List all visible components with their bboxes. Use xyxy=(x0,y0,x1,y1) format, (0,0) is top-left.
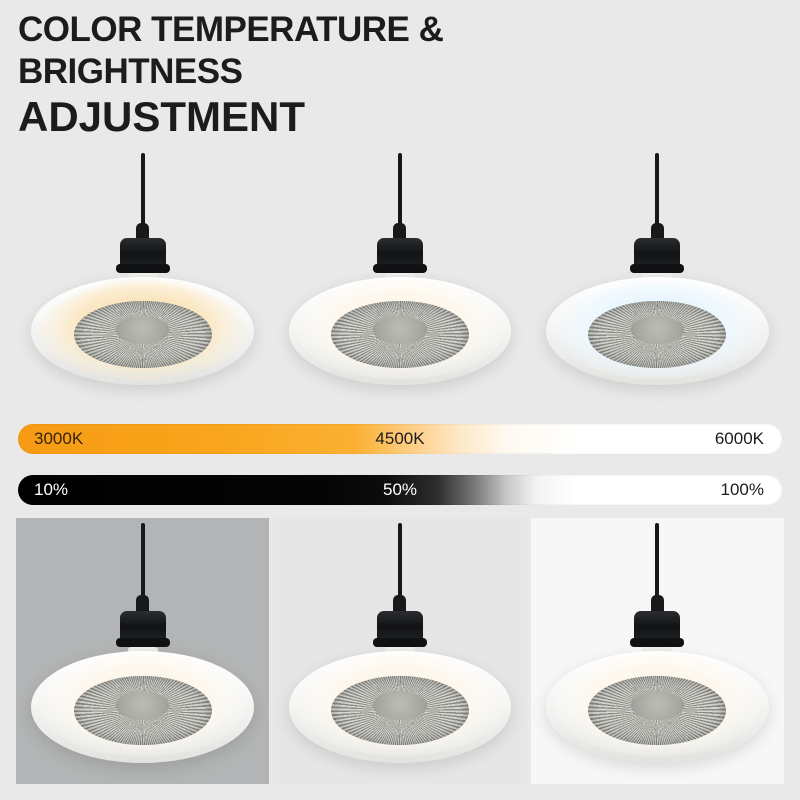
lamp-panel-100-percent xyxy=(531,518,784,784)
lamp-cord xyxy=(141,153,145,228)
lamp-cord xyxy=(141,523,145,600)
lamp-panel-10-percent xyxy=(16,518,269,784)
lamp-cord xyxy=(398,523,402,600)
lamp-shade xyxy=(289,651,512,763)
brightness-slider[interactable]: 10% 50% 100% xyxy=(18,475,782,505)
brightness-label-start: 10% xyxy=(34,475,68,505)
brightness-panel-row xyxy=(16,518,784,784)
lamp-shade xyxy=(546,277,769,385)
temp-label-start: 3000K xyxy=(34,424,83,454)
pendant-lamp-bright-image xyxy=(531,518,784,784)
pendant-lamp-warm-image xyxy=(16,148,269,406)
lamp-cord xyxy=(655,523,659,600)
lamp-socket-ring xyxy=(373,638,427,647)
temp-label-end: 6000K xyxy=(715,424,764,454)
lamp-panel-6000k xyxy=(531,148,784,406)
lamp-shade xyxy=(289,277,512,385)
page-title: COLOR TEMPERATURE & BRIGHTNESS ADJUSTMEN… xyxy=(18,6,778,138)
lamp-socket-ring xyxy=(116,638,170,647)
temp-label-mid: 4500K xyxy=(375,424,424,454)
title-line-3: ADJUSTMENT xyxy=(18,89,778,138)
lamp-cord xyxy=(398,153,402,228)
lamp-socket-ring xyxy=(116,264,170,273)
brightness-label-end: 100% xyxy=(721,475,764,505)
title-line-1: COLOR TEMPERATURE & xyxy=(18,6,778,47)
lamp-shade xyxy=(546,651,769,763)
color-temperature-panel-row xyxy=(16,148,784,406)
pendant-lamp-medium-image xyxy=(273,518,526,784)
lamp-panel-50-percent xyxy=(273,518,526,784)
fan-hub xyxy=(373,316,427,344)
color-temperature-slider[interactable]: 3000K 4500K 6000K xyxy=(18,424,782,454)
title-line-2: BRIGHTNESS xyxy=(18,47,778,89)
fan-hub xyxy=(631,316,685,344)
lamp-shade xyxy=(31,277,254,385)
fan-hub xyxy=(373,691,427,720)
lamp-cord xyxy=(655,153,659,228)
lamp-socket-ring xyxy=(630,264,684,273)
lamp-panel-3000k xyxy=(16,148,269,406)
lamp-socket-ring xyxy=(630,638,684,647)
pendant-lamp-dim-image xyxy=(16,518,269,784)
lamp-socket-ring xyxy=(373,264,427,273)
brightness-label-mid: 50% xyxy=(383,475,417,505)
pendant-lamp-cool-image xyxy=(531,148,784,406)
pendant-lamp-neutral-image xyxy=(273,148,526,406)
lamp-shade xyxy=(31,651,254,763)
lamp-panel-4500k xyxy=(273,148,526,406)
